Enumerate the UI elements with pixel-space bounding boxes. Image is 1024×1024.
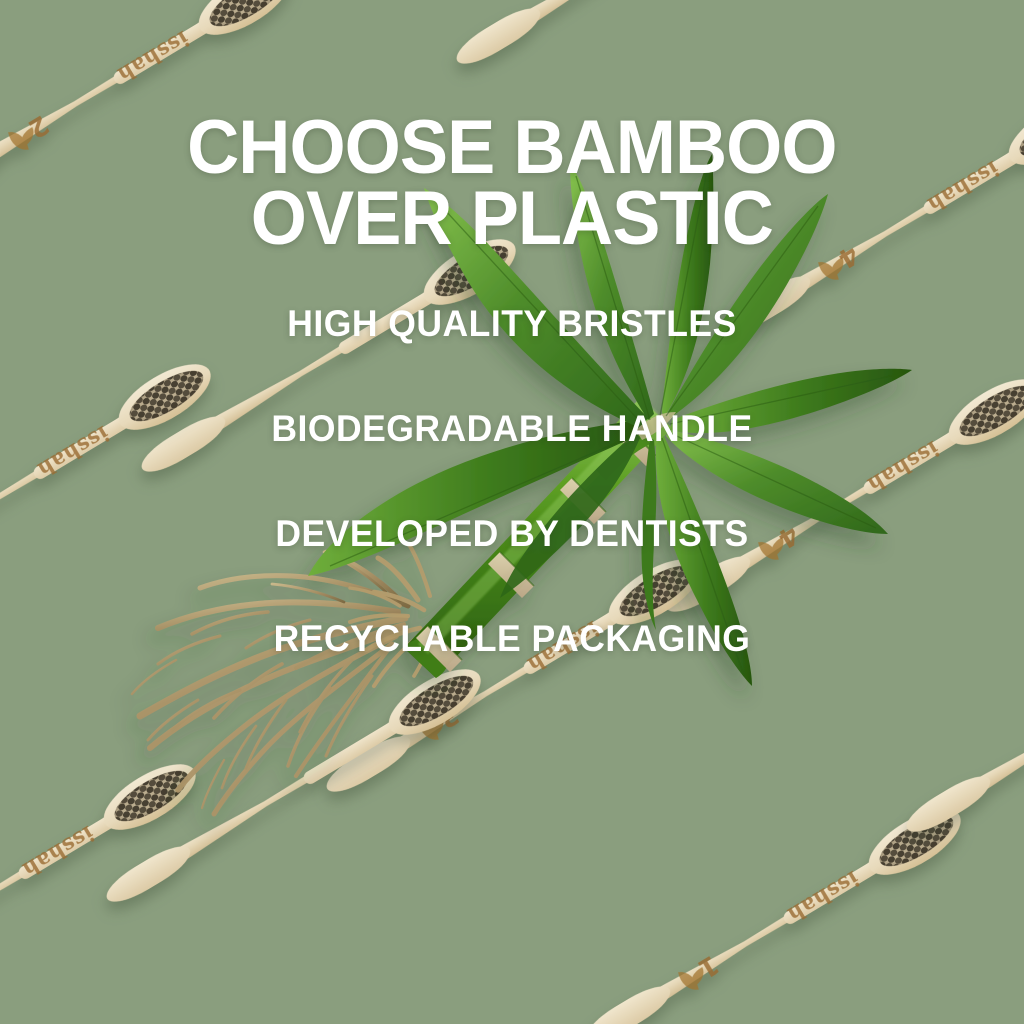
poster-canvas: 2isshahisshah4isshah2isshah4isshah3issha…: [0, 0, 1024, 1024]
copy-overlay: CHOOSE BAMBOO OVER PLASTIC HIGH QUALITY …: [0, 0, 1024, 1024]
headline-line-2: OVER PLASTIC: [187, 183, 837, 254]
feature-item-1: HIGH QUALITY BRISTLES: [20, 303, 1003, 345]
page-title: CHOOSE BAMBOO OVER PLASTIC: [187, 112, 837, 255]
feature-item-4: RECYCLABLE PACKAGING: [20, 618, 1003, 660]
feature-item-3: DEVELOPED BY DENTISTS: [20, 513, 1003, 555]
feature-item-2: BIODEGRADABLE HANDLE: [20, 408, 1003, 450]
feature-list: HIGH QUALITY BRISTLESBIODEGRADABLE HANDL…: [0, 303, 1024, 660]
